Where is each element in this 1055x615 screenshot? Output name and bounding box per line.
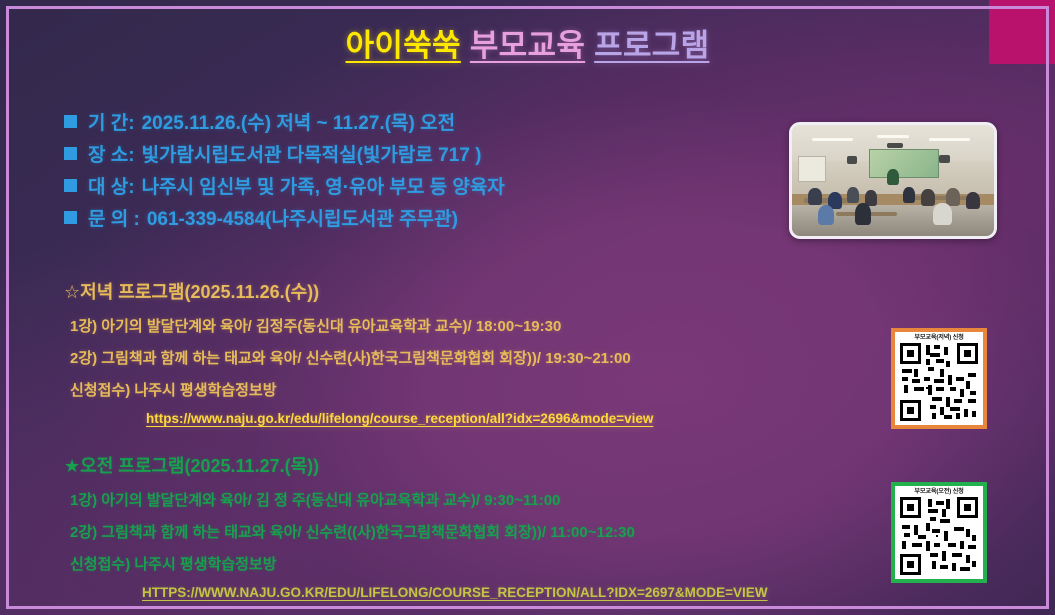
qr-code-morning-icon[interactable] xyxy=(900,497,978,575)
info-value-period: 2025.11.26.(수) 저녁 ~ 11.27.(목) 오전 xyxy=(142,108,456,135)
evening-registration: 신청접수) 나주시 평생학습정보방 xyxy=(64,379,653,400)
square-bullet-icon xyxy=(64,115,77,128)
title-part-program: 프로그램 xyxy=(594,28,709,63)
title-part-parent-education: 부모교육 xyxy=(470,28,585,63)
photo-presenter xyxy=(887,169,899,185)
evening-registration-link[interactable]: https://www.naju.go.kr/edu/lifelong/cour… xyxy=(146,411,653,426)
square-bullet-icon xyxy=(64,179,77,192)
morning-registration-link[interactable]: HTTPS://WWW.NAJU.GO.KR/EDU/LIFELONG/COUR… xyxy=(142,585,768,600)
photo-light-icon xyxy=(877,135,909,138)
qr-label-evening: 부모교육(저녁) 신청 xyxy=(895,332,983,343)
photo-attendee xyxy=(933,203,951,225)
info-label-place: 장 소: xyxy=(88,140,135,167)
evening-lecture-1: 1강) 아기의 발달단계와 육아/ 김정주(동신대 유아교육학과 교수)/ 18… xyxy=(64,315,653,336)
info-row-period: 기 간: 2025.11.26.(수) 저녁 ~ 11.27.(목) 오전 xyxy=(64,108,505,140)
morning-lecture-1: 1강) 아기의 발달단계와 육아/ 김 정 주(동신대 유아교육학과 교수)/ … xyxy=(64,489,768,510)
page-title: 아이쑥쑥부모교육프로그램 xyxy=(0,20,1055,65)
photo-attendee xyxy=(847,187,859,203)
photo-light-icon xyxy=(929,138,969,141)
info-block: 기 간: 2025.11.26.(수) 저녁 ~ 11.27.(목) 오전 장 … xyxy=(64,108,505,236)
info-value-audience: 나주시 임신부 및 가족, 영·유아 부모 등 양육자 xyxy=(142,172,505,199)
morning-lecture-2: 2강) 그림책과 함께 하는 태교와 육아/ 신수련((사)한국그림책문화협회 … xyxy=(64,521,768,542)
morning-heading: ★오전 프로그램(2025.11.27.(목)) xyxy=(64,452,768,478)
qr-label-morning: 부모교육(오전) 신청 xyxy=(895,486,983,497)
photo-attendee xyxy=(855,203,871,225)
evening-lecture-2: 2강) 그림책과 함께 하는 태교와 육아/ 신수련(사)한국그림책문화협회 회… xyxy=(64,347,653,368)
photo-attendee xyxy=(921,189,935,206)
info-label-contact: 문 의 : xyxy=(88,204,140,231)
photo-light-icon xyxy=(812,138,852,141)
info-row-contact: 문 의 : 061-339-4584(나주시립도서관 주무관) xyxy=(64,204,505,236)
photo-projector-icon xyxy=(887,143,903,149)
photo-projection-screen xyxy=(869,149,940,178)
photo-speaker-icon xyxy=(847,156,857,164)
lecture-room-photo xyxy=(789,122,997,239)
qr-code-evening-icon[interactable] xyxy=(900,343,978,421)
qr-card-evening[interactable]: 부모교육(저녁) 신청 xyxy=(891,328,987,429)
info-row-place: 장 소: 빛가람시립도서관 다목적실(빛가람로 717 ) xyxy=(64,140,505,172)
section-morning-program: ★오전 프로그램(2025.11.27.(목)) 1강) 아기의 발달단계와 육… xyxy=(64,452,768,600)
photo-attendee xyxy=(903,187,915,203)
photo-attendee xyxy=(808,188,822,205)
photo-wall-poster xyxy=(798,156,826,182)
info-value-contact: 061-339-4584(나주시립도서관 주무관) xyxy=(147,204,458,231)
qr-card-morning[interactable]: 부모교육(오전) 신청 xyxy=(891,482,987,583)
info-label-period: 기 간: xyxy=(88,108,135,135)
photo-attendee xyxy=(818,205,834,225)
poster-canvas: 아이쑥쑥부모교육프로그램 기 간: 2025.11.26.(수) 저녁 ~ 11… xyxy=(0,0,1055,615)
morning-registration: 신청접수) 나주시 평생학습정보방 xyxy=(64,553,768,574)
corner-accent-square xyxy=(989,0,1055,64)
square-bullet-icon xyxy=(64,147,77,160)
info-label-audience: 대 상: xyxy=(88,172,135,199)
evening-heading: ☆저녁 프로그램(2025.11.26.(수)) xyxy=(64,278,653,304)
title-part-aiswoogswoog: 아이쑥쑥 xyxy=(346,28,461,63)
info-row-audience: 대 상: 나주시 임신부 및 가족, 영·유아 부모 등 양육자 xyxy=(64,172,505,204)
info-value-place: 빛가람시립도서관 다목적실(빛가람로 717 ) xyxy=(142,140,482,167)
section-evening-program: ☆저녁 프로그램(2025.11.26.(수)) 1강) 아기의 발달단계와 육… xyxy=(64,278,653,426)
square-bullet-icon xyxy=(64,211,77,224)
photo-attendee xyxy=(966,192,980,210)
photo-speaker-icon xyxy=(939,155,949,163)
